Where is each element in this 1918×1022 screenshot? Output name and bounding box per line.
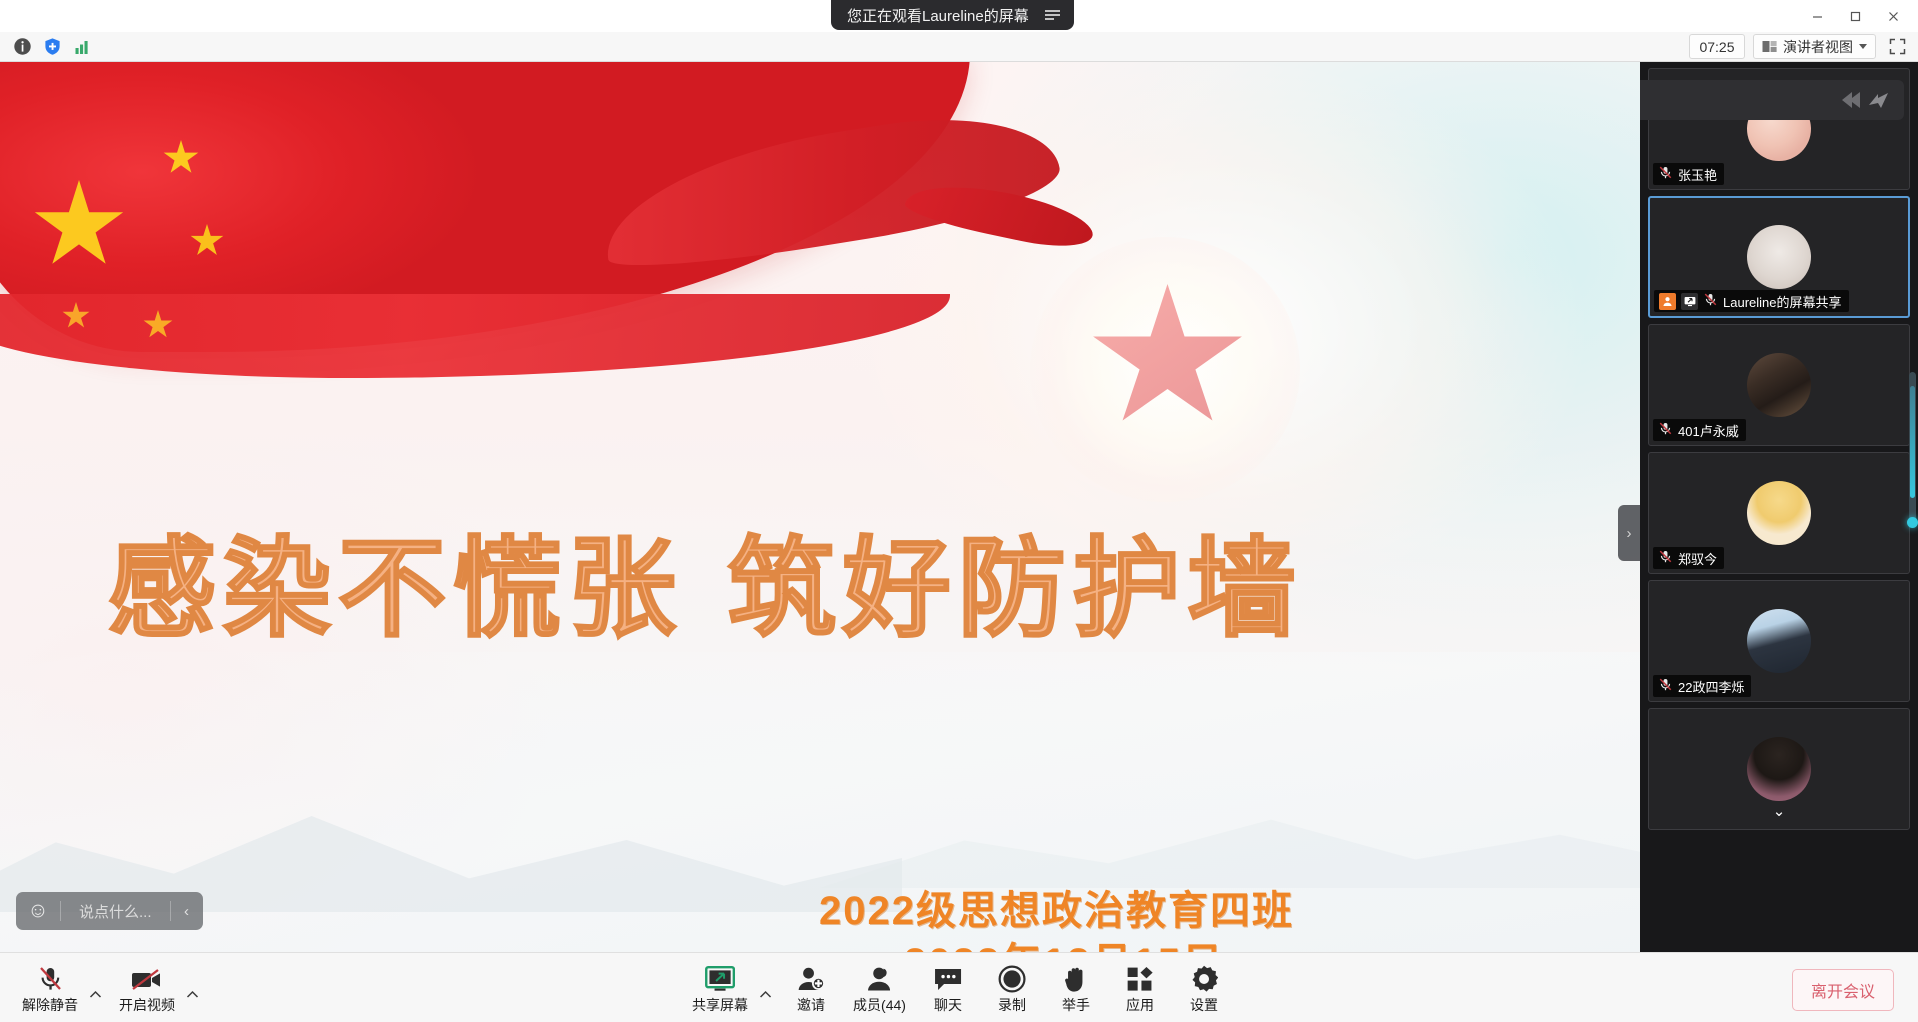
participant-name: 张玉艳 (1678, 165, 1717, 184)
mute-button[interactable]: 解除静音 (12, 961, 88, 1015)
settings-button-wrap: 设置 (1172, 961, 1236, 1015)
layout-icon (1762, 40, 1777, 54)
mute-button-label: 解除静音 (22, 995, 78, 1015)
participant-name-badge: 郑驭今 (1653, 547, 1724, 569)
video-button[interactable]: 开启视频 (109, 961, 185, 1015)
participant-name-badge: 22政四李烁 (1653, 675, 1751, 697)
participant-tile[interactable]: ⌄ (1648, 708, 1910, 830)
shared-screen-stage[interactable]: 感染不慌张 筑好防护墙 2022级思想政治教育四班 2022年12月15日 ☺ … (0, 62, 1640, 952)
avatar (1747, 225, 1811, 289)
participants-button-wrap: 成员(44) (843, 961, 916, 1015)
record-button-wrap: 录制 (980, 961, 1044, 1015)
fullscreen-icon (1889, 38, 1906, 55)
security-shield-icon[interactable] (40, 34, 64, 58)
participant-tile[interactable]: Laureline的屏幕共享 (1648, 196, 1910, 318)
mute-button-options-chevron-up-icon[interactable] (84, 973, 107, 1015)
share-screen-button[interactable]: 共享屏幕 (682, 961, 758, 1015)
fullscreen-button[interactable] (1884, 34, 1910, 59)
participant-tile[interactable]: 22政四李烁 (1648, 580, 1910, 702)
raise-hand-button-wrap: 举手 (1044, 961, 1108, 1015)
raise-hand-button-label: 举手 (1062, 995, 1090, 1015)
meeting-toolbar: 解除静音开启视频 共享屏幕邀请成员(44)聊天录制举手应用设置 离开会议 (0, 952, 1918, 1022)
chat-bubble-icon (933, 963, 963, 993)
video-button-wrap: 开启视频 (109, 961, 206, 1015)
share-screen-button-label: 共享屏幕 (692, 995, 748, 1015)
raise-hand-button[interactable]: 举手 (1044, 961, 1108, 1015)
gear-icon (1190, 963, 1218, 993)
network-stats-icon[interactable] (70, 34, 94, 58)
participant-name: 401卢永威 (1678, 421, 1739, 440)
info-icon[interactable] (10, 34, 34, 58)
avatar (1747, 481, 1811, 545)
maximize-button[interactable] (1836, 2, 1874, 30)
window-title-bar: 您正在观看Laureline的屏幕 (0, 0, 1918, 32)
camera-off-icon (130, 963, 164, 993)
slide-title: 感染不慌张 筑好防护墙 (108, 502, 1318, 658)
share-notice-label: 您正在观看Laureline的屏幕 (847, 5, 1029, 26)
share-screen-icon (705, 963, 735, 993)
next-page-icon (1866, 89, 1892, 111)
record-button[interactable]: 录制 (980, 961, 1044, 1015)
toolbar-center-group: 共享屏幕邀请成员(44)聊天录制举手应用设置 (682, 961, 1236, 1015)
panel-page-nav[interactable] (1838, 89, 1892, 111)
chevron-down-icon[interactable]: ⌄ (1764, 801, 1794, 821)
apps-grid-icon (1126, 963, 1154, 993)
panel-scrollbar[interactable] (1909, 372, 1916, 522)
raise-hand-icon (1062, 963, 1089, 993)
meeting-info-bar: 07:25 演讲者视图 (0, 32, 1918, 62)
slide-subtitle-class: 2022级思想政治教育四班 (0, 878, 1614, 936)
chat-button-label: 聊天 (934, 995, 962, 1015)
settings-button[interactable]: 设置 (1172, 961, 1236, 1015)
invite-button[interactable]: 邀请 (779, 961, 843, 1015)
share-screen-button-options-chevron-up-icon[interactable] (754, 973, 777, 1015)
participants-button-label: 成员(44) (853, 995, 906, 1015)
slide-subtitle-date: 2022年12月15日 (0, 930, 1614, 952)
mic-muted-icon (1658, 165, 1673, 183)
video-button-options-chevron-up-icon[interactable] (181, 973, 204, 1015)
close-button[interactable] (1874, 2, 1912, 30)
minimize-button[interactable] (1798, 2, 1836, 30)
prev-page-icon (1838, 89, 1864, 111)
avatar (1747, 609, 1811, 673)
chevron-down-icon[interactable] (1859, 44, 1867, 49)
mic-muted-icon (1703, 292, 1718, 310)
mic-muted-icon (37, 963, 64, 993)
avatar (1747, 353, 1811, 417)
participant-tile[interactable]: 401卢永威 (1648, 324, 1910, 446)
chevron-left-icon[interactable]: ‹ (171, 903, 203, 920)
shared-slide: 感染不慌张 筑好防护墙 2022级思想政治教育四班 2022年12月15日 (0, 62, 1640, 952)
invite-button-label: 邀请 (797, 995, 825, 1015)
leave-meeting-button[interactable]: 离开会议 (1792, 969, 1894, 1011)
invite-person-icon (796, 963, 826, 993)
participant-name-badge: 张玉艳 (1653, 163, 1724, 185)
collapse-panel-button[interactable]: › (1618, 505, 1640, 561)
participant-name: 22政四李烁 (1678, 677, 1744, 696)
record-button-label: 录制 (998, 995, 1026, 1015)
participant-name-badge: Laureline的屏幕共享 (1654, 290, 1849, 312)
mute-button-wrap: 解除静音 (12, 961, 109, 1015)
meeting-status-icons (10, 34, 94, 58)
toolbar-left-group: 解除静音开启视频 (12, 961, 206, 1015)
share-notice-pill[interactable]: 您正在观看Laureline的屏幕 (831, 0, 1074, 30)
avatar (1747, 737, 1811, 801)
settings-button-label: 设置 (1190, 995, 1218, 1015)
screen-share-icon (1681, 293, 1698, 310)
mic-muted-icon (1658, 549, 1673, 567)
host-icon (1659, 293, 1676, 310)
invite-button-wrap: 邀请 (779, 961, 843, 1015)
share-screen-button-wrap: 共享屏幕 (682, 961, 779, 1015)
apps-button[interactable]: 应用 (1108, 961, 1172, 1015)
participant-name-badge: 401卢永威 (1653, 419, 1746, 441)
apps-button-wrap: 应用 (1108, 961, 1172, 1015)
apps-button-label: 应用 (1126, 995, 1154, 1015)
participant-panel[interactable]: 正在讲话: 张玉艳Laureline的屏幕共享401卢永威郑驭今22政四李烁⌄ (1640, 62, 1918, 952)
participant-name: Laureline的屏幕共享 (1723, 292, 1842, 311)
view-mode-selector[interactable]: 演讲者视图 (1753, 34, 1876, 59)
view-controls: 07:25 演讲者视图 (1689, 34, 1910, 59)
hamburger-icon[interactable] (1043, 10, 1060, 20)
view-mode-label: 演讲者视图 (1783, 37, 1853, 57)
window-controls (1798, 0, 1912, 32)
quick-chat-bar[interactable]: ☺ 说点什么... ‹ (16, 892, 203, 930)
chat-button-wrap: 聊天 (916, 961, 980, 1015)
mic-muted-icon (1658, 421, 1673, 439)
smiley-icon[interactable]: ☺ (16, 899, 60, 923)
participant-name: 郑驭今 (1678, 549, 1717, 568)
chat-button[interactable]: 聊天 (916, 961, 980, 1015)
video-button-label: 开启视频 (119, 995, 175, 1015)
quick-chat-input[interactable]: 说点什么... (61, 901, 170, 922)
participants-button[interactable]: 成员(44) (843, 961, 916, 1015)
record-circle-icon (998, 963, 1026, 993)
mic-muted-icon (1658, 677, 1673, 695)
participants-icon (865, 963, 895, 993)
active-speaker-label: 正在讲话: (1640, 90, 1826, 111)
participant-tile[interactable]: 郑驭今 (1648, 452, 1910, 574)
active-speaker-bar: 正在讲话: (1640, 80, 1904, 120)
meeting-timer: 07:25 (1689, 34, 1745, 59)
participant-tile-list[interactable]: 张玉艳Laureline的屏幕共享401卢永威郑驭今22政四李烁⌄ (1640, 62, 1918, 836)
